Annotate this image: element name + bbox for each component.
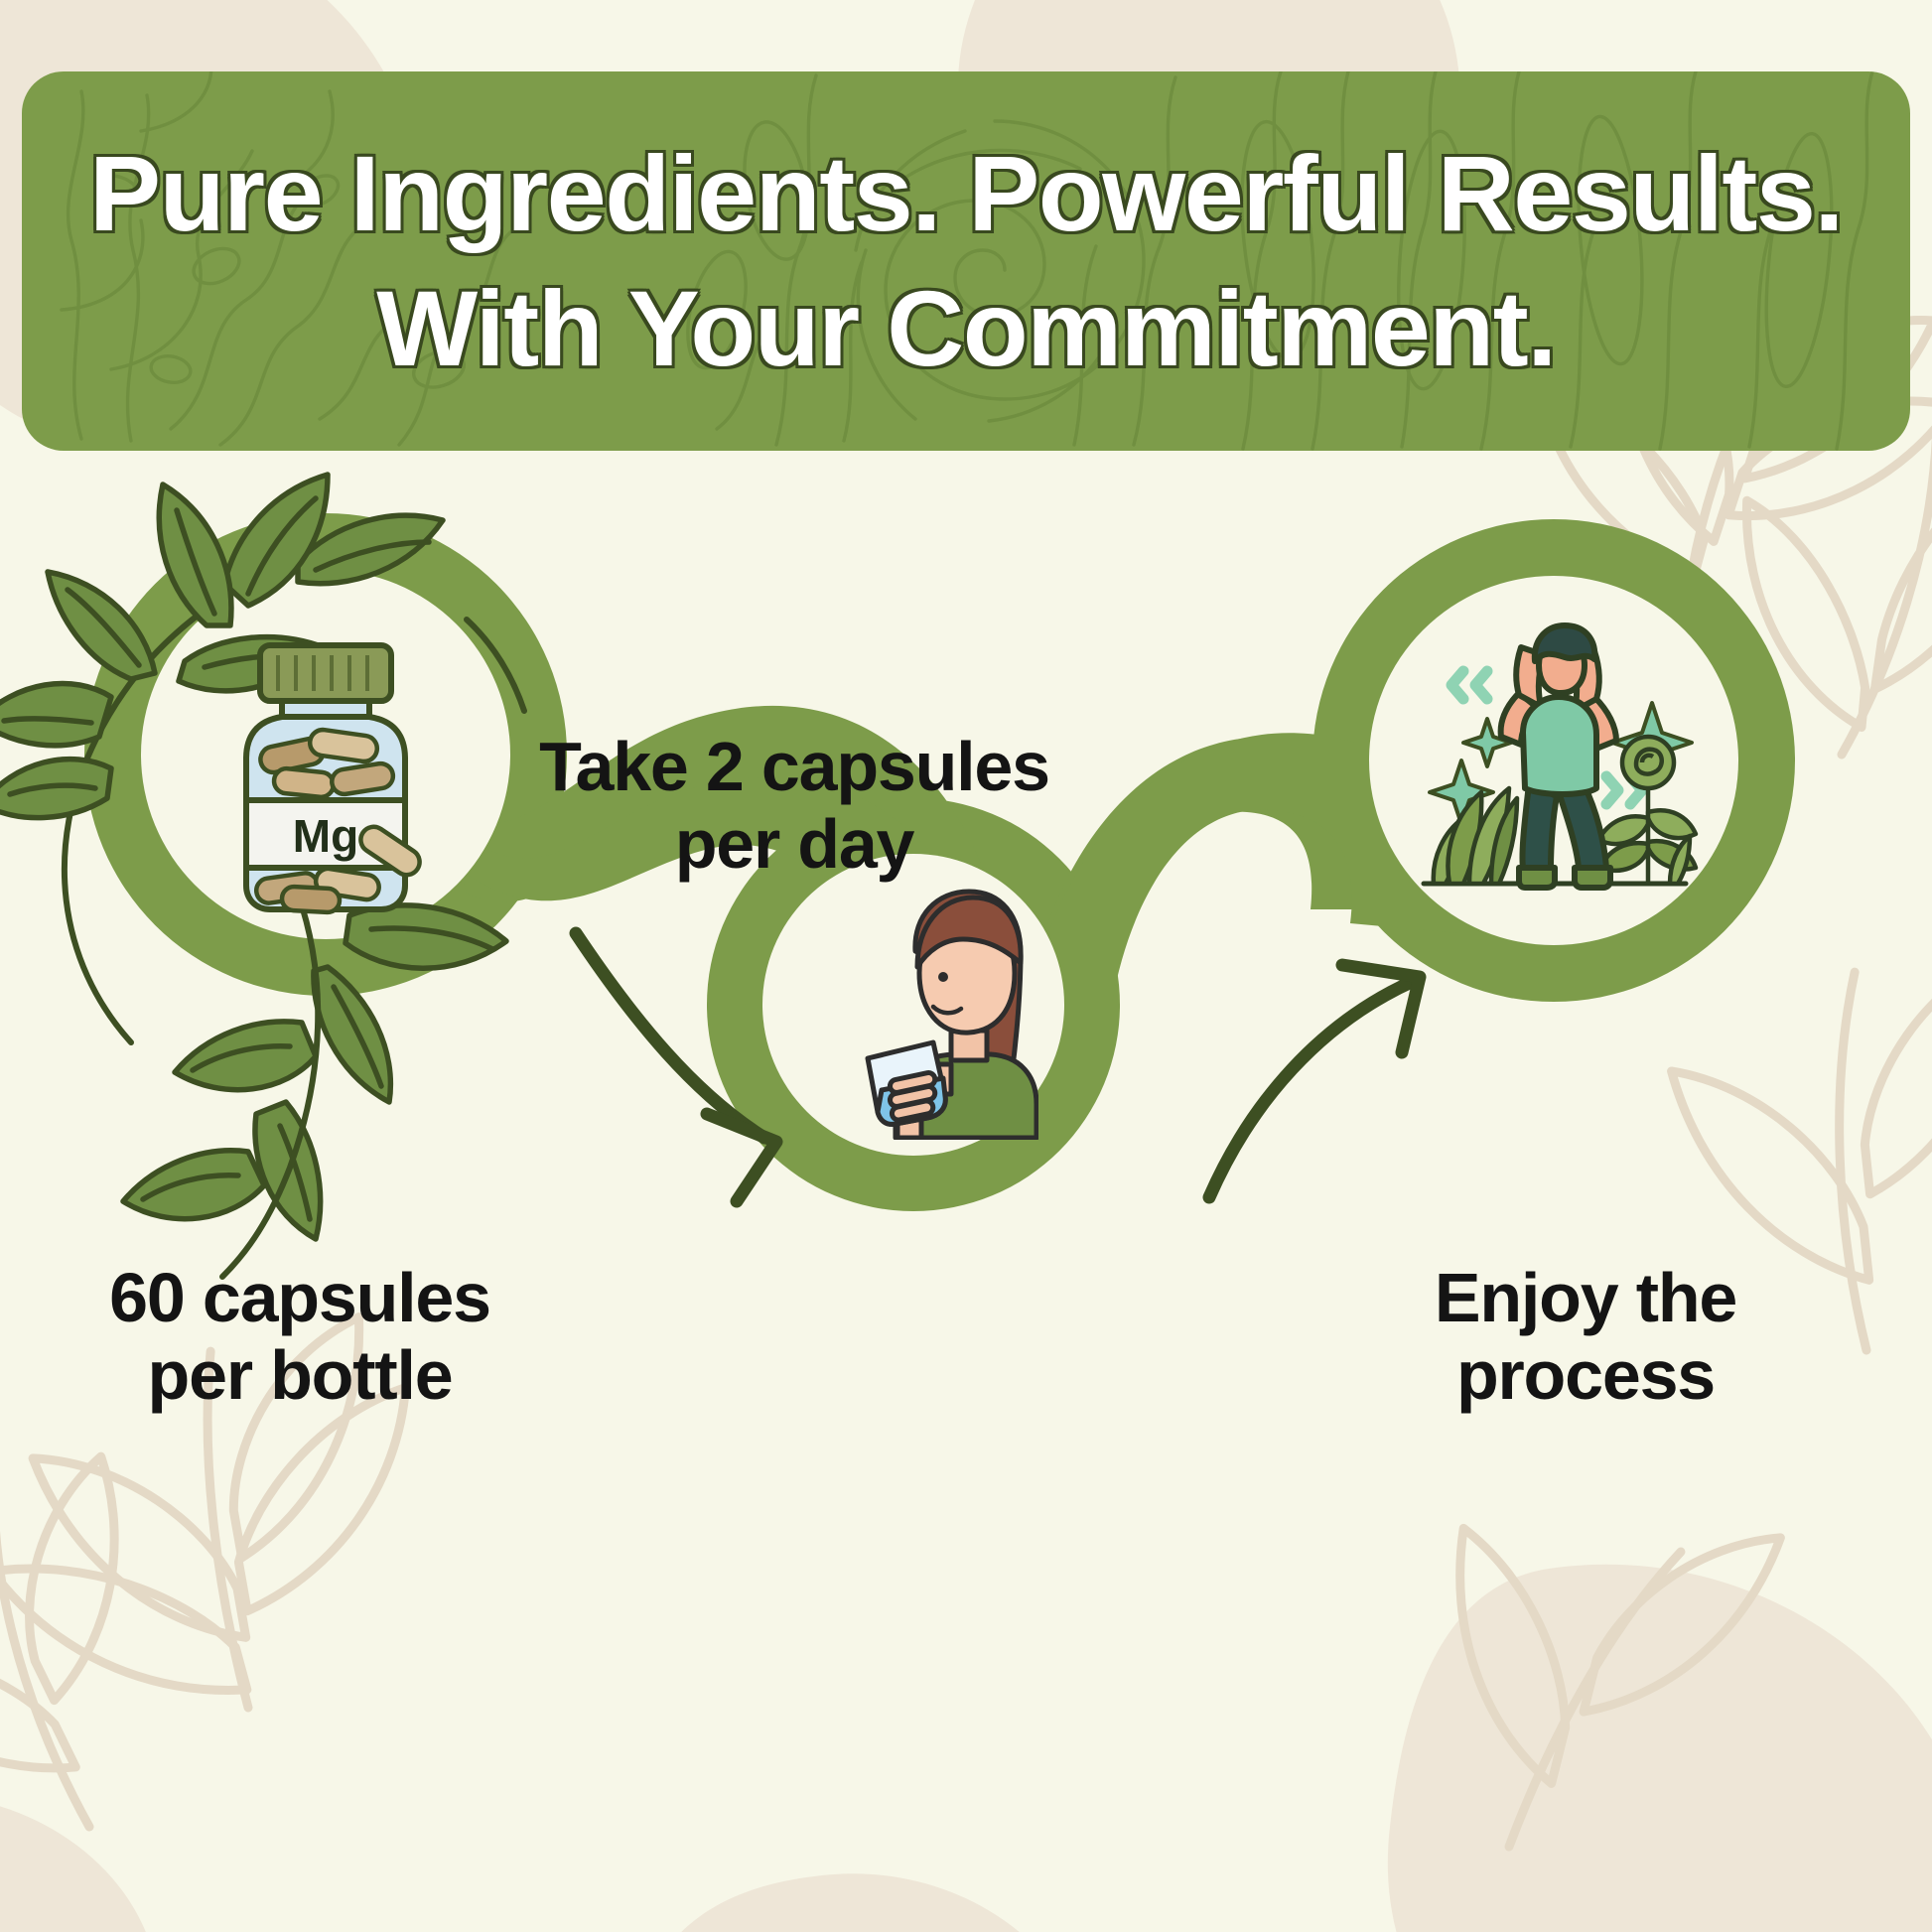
- caption-right-line-2: process: [1352, 1336, 1819, 1414]
- bottle-label-text: Mg: [293, 810, 358, 862]
- caption-left-line-1: 60 capsules: [22, 1259, 578, 1336]
- grass-tuft: [1434, 788, 1517, 884]
- headline-text-block: Pure Ingredients. Powerful Results. With…: [22, 71, 1910, 451]
- caption-right-line-1: Enjoy the: [1352, 1259, 1819, 1336]
- person-celebrating-icon: [1400, 608, 1710, 917]
- headline-line-1: Pure Ingredients. Powerful Results.: [89, 128, 1843, 259]
- caption-60-capsules: 60 capsules per bottle: [22, 1259, 578, 1415]
- pill-bottle-icon: Mg: [187, 625, 465, 923]
- process-flow-diagram: Mg: [0, 467, 1932, 1320]
- infographic-poster: Pure Ingredients. Powerful Results. With…: [0, 0, 1932, 1932]
- caption-enjoy-the-process: Enjoy the process: [1352, 1259, 1819, 1415]
- arrow-water-to-celebrate: [1209, 965, 1420, 1197]
- caption-mid-line-1: Take 2 capsules: [506, 728, 1082, 805]
- caption-left-line-2: per bottle: [22, 1336, 578, 1414]
- caption-mid-line-2: per day: [506, 805, 1082, 883]
- headline-line-2: With Your Commitment.: [376, 263, 1556, 394]
- caption-take-2-capsules: Take 2 capsules per day: [506, 728, 1082, 884]
- headline-banner: Pure Ingredients. Powerful Results. With…: [22, 71, 1910, 451]
- woman-drinking-water-icon: [794, 882, 1038, 1140]
